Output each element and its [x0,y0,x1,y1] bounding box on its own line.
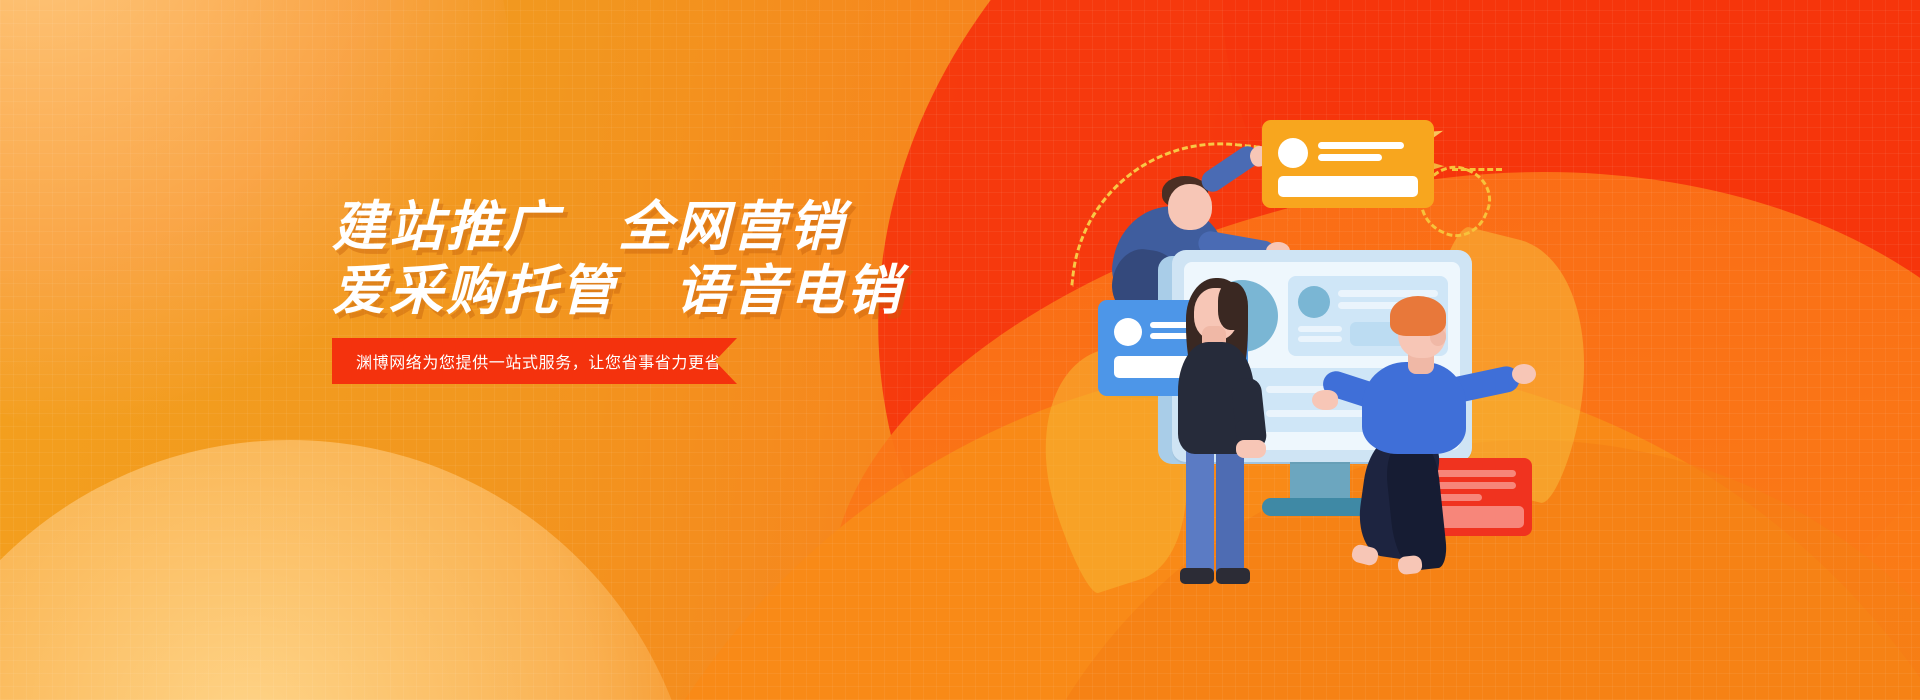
person-man-hand-right [1512,364,1536,384]
headline-line-2-left: 爱采购托管 [332,261,617,321]
person-woman-leg-1 [1186,440,1214,578]
headline-line-1: 建站推广 全网营销 [332,196,1052,260]
blue-card-avatar-icon [1114,318,1142,346]
person-woman-shoe-1 [1180,568,1214,584]
headline-line-1-left: 建站推广 [332,197,560,257]
screen-line-4 [1298,336,1342,342]
headline-line-2-right: 语音电销 [675,261,903,321]
banner-copy: 建站推广 全网营销 爱采购托管 语音电销 [332,196,1052,323]
person-man-torso [1362,362,1466,454]
screen-line-3 [1298,326,1342,332]
background-decoration-layer [0,0,1920,700]
grid-texture-overlay [0,0,1920,700]
yellow-card-line-1 [1318,142,1404,149]
headline-line-1-right: 全网营销 [618,197,846,257]
person-reaching-head [1168,184,1212,230]
yellow-card-avatar-icon [1278,138,1308,168]
person-woman-hair-front [1218,282,1248,330]
person-man-hair [1390,296,1446,336]
headline-line-2: 爱采购托管 语音电销 [332,260,1052,324]
person-woman-shoe-2 [1216,568,1250,584]
tagline-text: 渊博网络为您提供一站式服务，让您省事省力更省心 [356,349,738,373]
screen-avatar-icon [1298,286,1330,318]
tagline-ribbon: 渊博网络为您提供一站式服务，让您省事省力更省心 [332,338,737,384]
yellow-card-bar [1278,176,1418,197]
person-woman-hand [1236,440,1266,458]
yellow-card-line-2 [1318,154,1382,161]
person-man-hand-left [1312,390,1338,410]
person-woman-leg-2 [1216,440,1244,578]
hero-illustration [1090,110,1530,590]
person-man-foot-2 [1397,555,1423,575]
promo-banner: 建站推广 全网营销 爱采购托管 语音电销 渊博网络为您提供一站式服务，让您省事省… [0,0,1920,700]
